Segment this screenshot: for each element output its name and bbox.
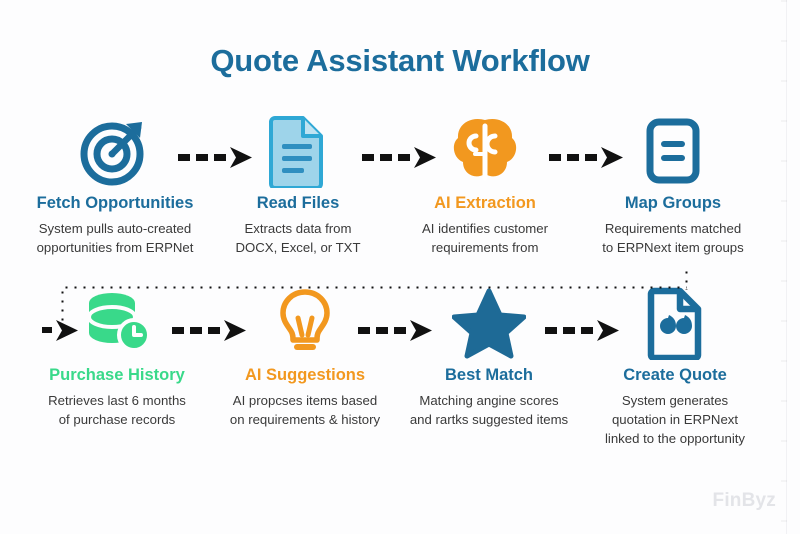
step-title: Best Match	[396, 366, 582, 384]
dashed-arrow-right-icon	[178, 145, 254, 171]
step-title: Create Quote	[582, 366, 768, 384]
step-description: Matching angine scores and rartks sugges…	[396, 392, 582, 429]
step-title: Map Groups	[580, 194, 766, 212]
step-title: Read Files	[205, 194, 391, 212]
dashed-arrow-right-icon	[362, 145, 438, 171]
step-description: Extracts data from DOCX, Excel, or TXT	[205, 220, 391, 257]
step-ai-suggestions: AI Suggestions AI propcses items based o…	[212, 284, 398, 430]
step-description: System pulls auto-created opportunities …	[22, 220, 208, 257]
dashed-arrow-right-icon	[549, 145, 625, 171]
step-title: AI Suggestions	[212, 366, 398, 384]
step-title: Purchase History	[24, 366, 210, 384]
page-title: Quote Assistant Workflow	[0, 43, 800, 79]
step-read-files: Read Files Extracts data from DOCX, Exce…	[205, 112, 391, 258]
dashed-arrow-right-icon	[172, 318, 248, 344]
step-create-quote: Create Quote System generates quotation …	[582, 284, 768, 448]
step-map-groups: Map Groups Requirements matched to ERPNe…	[580, 112, 766, 258]
dashed-arrow-right-icon	[358, 318, 434, 344]
step-ai-extraction: AI Extraction AI identifies customer req…	[392, 112, 578, 258]
right-edge-ticks	[781, 0, 787, 534]
step-fetch-opportunities: Fetch Opportunities System pulls auto-cr…	[22, 112, 208, 258]
step-description: Retrieves last 6 months of purchase reco…	[24, 392, 210, 429]
step-title: Fetch Opportunities	[22, 194, 208, 212]
watermark: FinByz	[713, 490, 776, 512]
dotted-wrap-connector-horizontal	[62, 286, 687, 289]
step-description: AI identifies customer requirements from	[392, 220, 578, 257]
step-purchase-history: Purchase History Retrieves last 6 months…	[24, 284, 210, 430]
workflow-diagram: Quote Assistant Workflow Fetch Opportuni…	[0, 0, 800, 534]
dashed-arrow-right-icon	[545, 318, 621, 344]
step-description: System generates quotation in ERPNext li…	[582, 392, 768, 448]
step-description: Requirements matched to ERPNext item gro…	[580, 220, 766, 257]
dotted-wrap-connector-left	[61, 288, 64, 328]
step-title: AI Extraction	[392, 194, 578, 212]
step-description: AI propcses items based on requirements …	[212, 392, 398, 429]
step-best-match: Best Match Matching angine scores and ra…	[396, 284, 582, 430]
